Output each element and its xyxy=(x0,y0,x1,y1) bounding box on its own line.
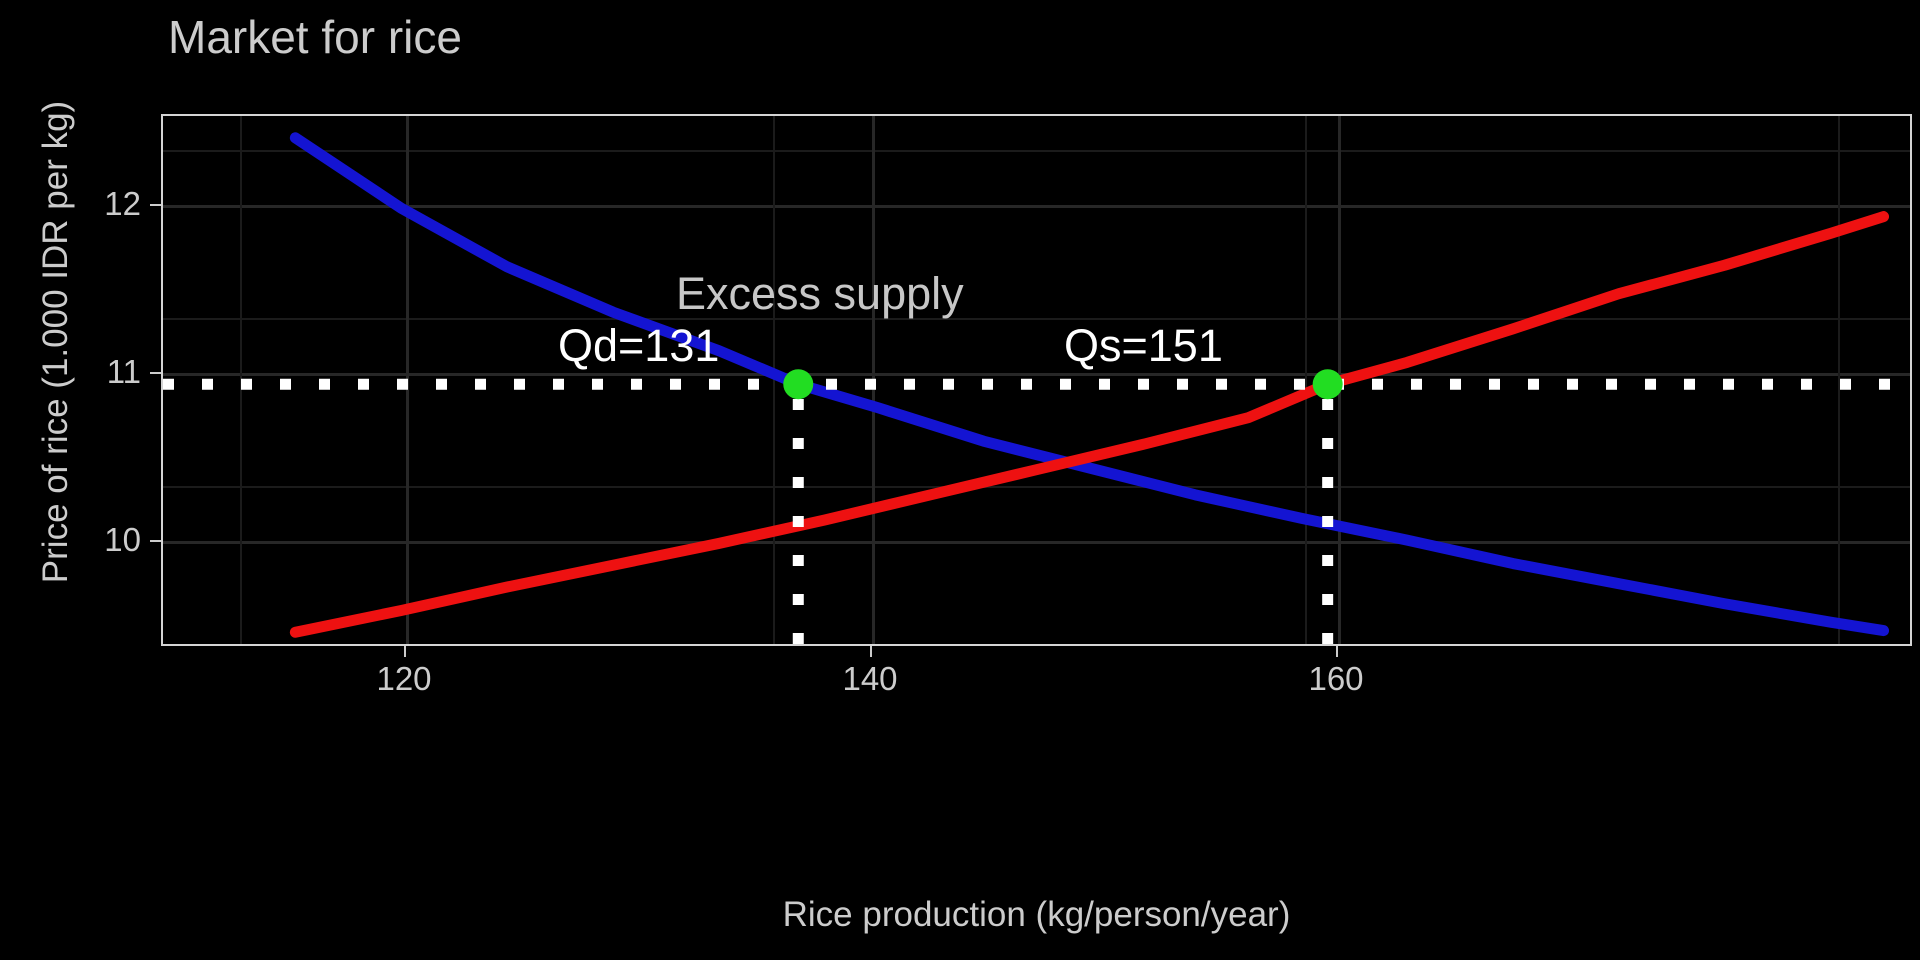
y-tick-label-12: 12 xyxy=(104,185,141,223)
y-tick-mark-10 xyxy=(150,540,161,542)
y-tick-label-11: 11 xyxy=(107,353,141,391)
x-tick-label-160: 160 xyxy=(1308,660,1363,698)
x-tick-mark-160 xyxy=(1336,646,1338,657)
x-axis-label: Rice production (kg/person/year) xyxy=(161,895,1912,935)
x-tick-label-140: 140 xyxy=(842,660,897,698)
y-tick-mark-12 xyxy=(150,204,161,206)
y-tick-mark-11 xyxy=(150,372,161,374)
x-tick-label-120: 120 xyxy=(376,660,431,698)
x-tick-mark-140 xyxy=(870,646,872,657)
curves-layer xyxy=(163,116,1910,644)
data-point-qs-point[interactable] xyxy=(1313,369,1343,399)
x-tick-mark-120 xyxy=(404,646,406,657)
chart-root: Market for rice Price of rice (1.000 IDR… xyxy=(0,0,1920,960)
y-axis-label: Price of rice (1.000 IDR per kg) xyxy=(36,42,76,642)
page-title: Market for rice xyxy=(168,10,462,64)
data-point-qd-point[interactable] xyxy=(783,369,813,399)
y-tick-label-10: 10 xyxy=(104,521,141,559)
plot-panel: Excess supply Qd=131 Qs=151 xyxy=(161,114,1912,646)
